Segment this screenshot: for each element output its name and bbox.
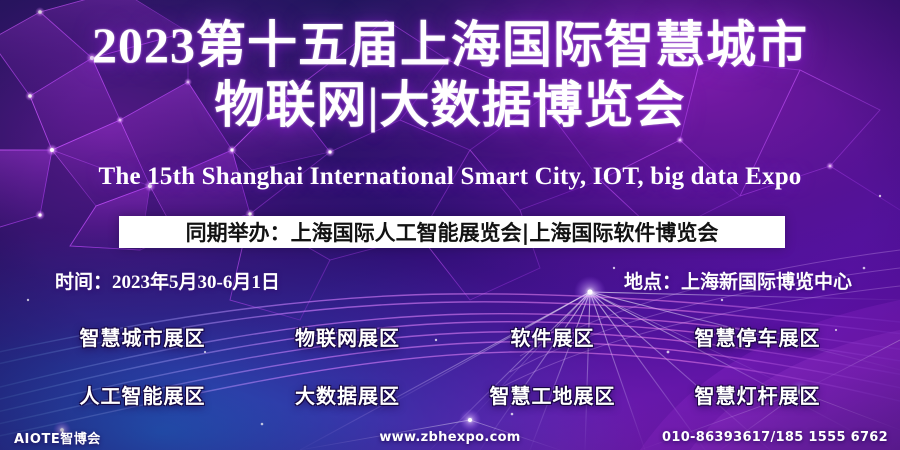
poster-footer: AIOTE智博会 www.zbhexpo.com 010-86393617/18… bbox=[0, 424, 900, 450]
zone-item: 软件展区 bbox=[450, 322, 655, 351]
event-meta-row: 时间：2023年5月30-6月1日 地点：上海新国际博览中心 bbox=[0, 267, 900, 295]
zone-item: 大数据展区 bbox=[245, 380, 450, 409]
english-subtitle: The 15th Shanghai International Smart Ci… bbox=[0, 163, 900, 191]
zone-row-1: 智慧城市展区 物联网展区 软件展区 智慧停车展区 bbox=[40, 322, 860, 351]
title-line-secondary: 物联网|大数据博览会 bbox=[0, 80, 900, 130]
zone-row-2: 人工智能展区 大数据展区 智慧工地展区 智慧灯杆展区 bbox=[40, 380, 860, 409]
poster-title: 2023第十五届上海国际智慧城市 物联网|大数据博览会 bbox=[0, 20, 900, 130]
concurrent-events-banner: 同期举办：上海国际人工智能展览会|上海国际软件博览会 bbox=[119, 216, 785, 248]
exhibition-zones: 智慧城市展区 物联网展区 软件展区 智慧停车展区 人工智能展区 大数据展区 智慧… bbox=[40, 322, 860, 409]
zone-item: 物联网展区 bbox=[245, 322, 450, 351]
concurrent-events-text: 同期举办：上海国际人工智能展览会|上海国际软件博览会 bbox=[186, 217, 719, 247]
zone-item: 人工智能展区 bbox=[40, 380, 245, 409]
zone-item: 智慧灯杆展区 bbox=[655, 380, 860, 409]
title-line-primary: 2023第十五届上海国际智慧城市 bbox=[0, 20, 900, 70]
event-venue: 地点：上海新国际博览中心 bbox=[624, 267, 852, 294]
zone-item: 智慧城市展区 bbox=[40, 322, 245, 351]
zone-item: 智慧工地展区 bbox=[450, 380, 655, 409]
event-date: 时间：2023年5月30-6月1日 bbox=[55, 267, 280, 294]
zone-item: 智慧停车展区 bbox=[655, 322, 860, 351]
footer-phone[interactable]: 010-86393617/185 1555 6762 bbox=[662, 430, 888, 445]
expo-poster: 2023第十五届上海国际智慧城市 物联网|大数据博览会 The 15th Sha… bbox=[0, 0, 900, 450]
